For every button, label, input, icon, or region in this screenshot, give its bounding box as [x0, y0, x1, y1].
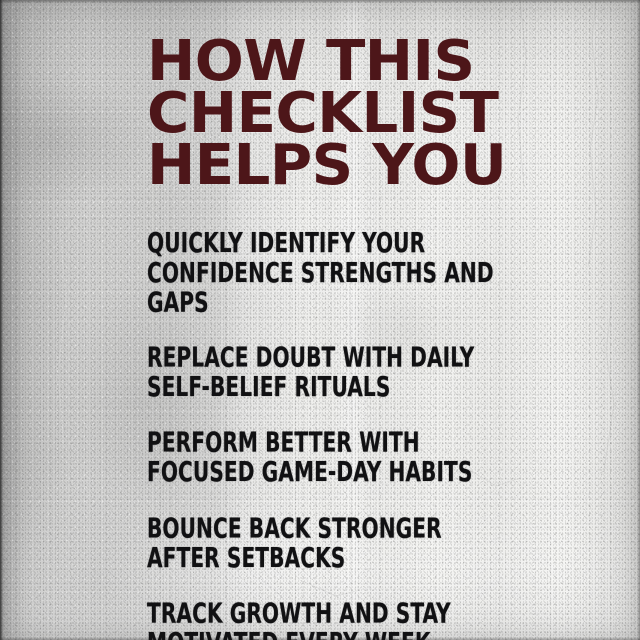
poster-canvas: HOW THIS CHECKLIST HELPS YOU QUICKLY IDE… — [0, 0, 640, 640]
list-item: TRACK GROWTH AND STAY MOTIVATED EVERY WE… — [147, 599, 501, 640]
list-item: BOUNCE BACK STRONGER AFTER SETBACKS — [147, 514, 501, 573]
list-item: QUICKLY IDENTIFY YOUR CONFIDENCE STRENGT… — [147, 229, 501, 317]
page-title: HOW THIS CHECKLIST HELPS YOU — [147, 36, 640, 191]
benefits-list: QUICKLY IDENTIFY YOUR CONFIDENCE STRENGT… — [147, 233, 640, 640]
list-item: PERFORM BETTER WITH FOCUSED GAME-DAY HAB… — [147, 428, 501, 487]
list-item: REPLACE DOUBT WITH DAILY SELF-BELIEF RIT… — [147, 343, 501, 402]
poster-content: HOW THIS CHECKLIST HELPS YOU QUICKLY IDE… — [0, 0, 640, 640]
